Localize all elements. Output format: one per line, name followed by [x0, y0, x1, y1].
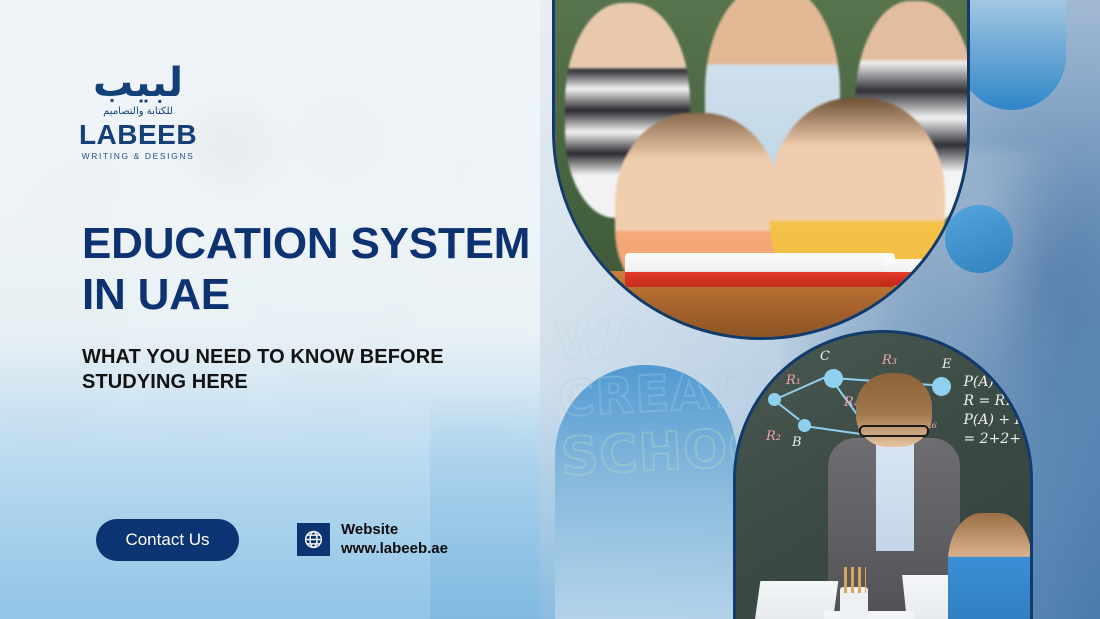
blue-arch-shape	[555, 365, 737, 619]
chalk-label-R2: R₂	[766, 429, 781, 444]
website-url: www.labeeb.ae	[341, 539, 448, 558]
student-with-laptop	[948, 513, 1032, 619]
chalk-label-R3: R₃	[882, 353, 897, 368]
teacher-chalkboard-laptops-photo: A B C E R₁ R₂ R₃ R₄ R₆ P(A) R = R₁ P(A) …	[733, 330, 1033, 619]
children-reading-book-photo	[552, 0, 970, 340]
contact-us-button[interactable]: Contact Us	[96, 519, 239, 561]
website-info[interactable]: Website www.labeeb.ae	[297, 520, 448, 558]
logo-name: LABEEB	[78, 120, 198, 150]
logo-tagline: WRITING & DESIGNS	[78, 150, 198, 162]
second-book	[885, 259, 965, 285]
laptop	[824, 611, 914, 619]
website-label: Website	[341, 520, 448, 539]
chalk-equation-3: P(A) + P	[963, 411, 1024, 430]
teacher-shirt	[876, 441, 914, 551]
page-subtitle: WHAT YOU NEED TO KNOW BEFORE STUDYING HE…	[82, 345, 522, 395]
blue-pill-shape	[958, 0, 1066, 110]
logo-arabic-tagline: للكتابة والتصاميم	[78, 105, 198, 118]
chalk-label-B: B	[792, 435, 802, 450]
chalk-label-A: A	[758, 373, 767, 388]
teacher-glasses	[859, 425, 929, 437]
chalk-label-E: E	[942, 357, 952, 372]
chalk-label-R1: R₁	[786, 373, 801, 388]
logo-arabic-name: لبيب	[78, 62, 198, 104]
chalk-equations: P(A) R = R₁ P(A) + P = 2+2+	[963, 373, 1024, 449]
blue-arch-fade	[430, 390, 560, 619]
page-title: EDUCATION SYSTEM IN UAE	[82, 218, 552, 320]
chalk-label-C: C	[820, 349, 830, 364]
chalk-equation-2: R = R₁	[963, 392, 1024, 411]
circuit-node	[932, 377, 951, 396]
labeeb-logo[interactable]: لبيب للكتابة والتصاميم LABEEB WRITING & …	[78, 62, 198, 162]
pencils	[844, 567, 866, 593]
chalk-equation-4: = 2+2+	[963, 430, 1024, 449]
education-banner: WAH CREATIVE SCHOOL A B C E R₁ R₂ R₃	[0, 0, 1100, 619]
website-text: Website www.labeeb.ae	[341, 520, 448, 558]
open-book	[625, 253, 895, 287]
globe-icon	[297, 523, 330, 556]
chalk-equation-1: P(A)	[963, 373, 1024, 392]
